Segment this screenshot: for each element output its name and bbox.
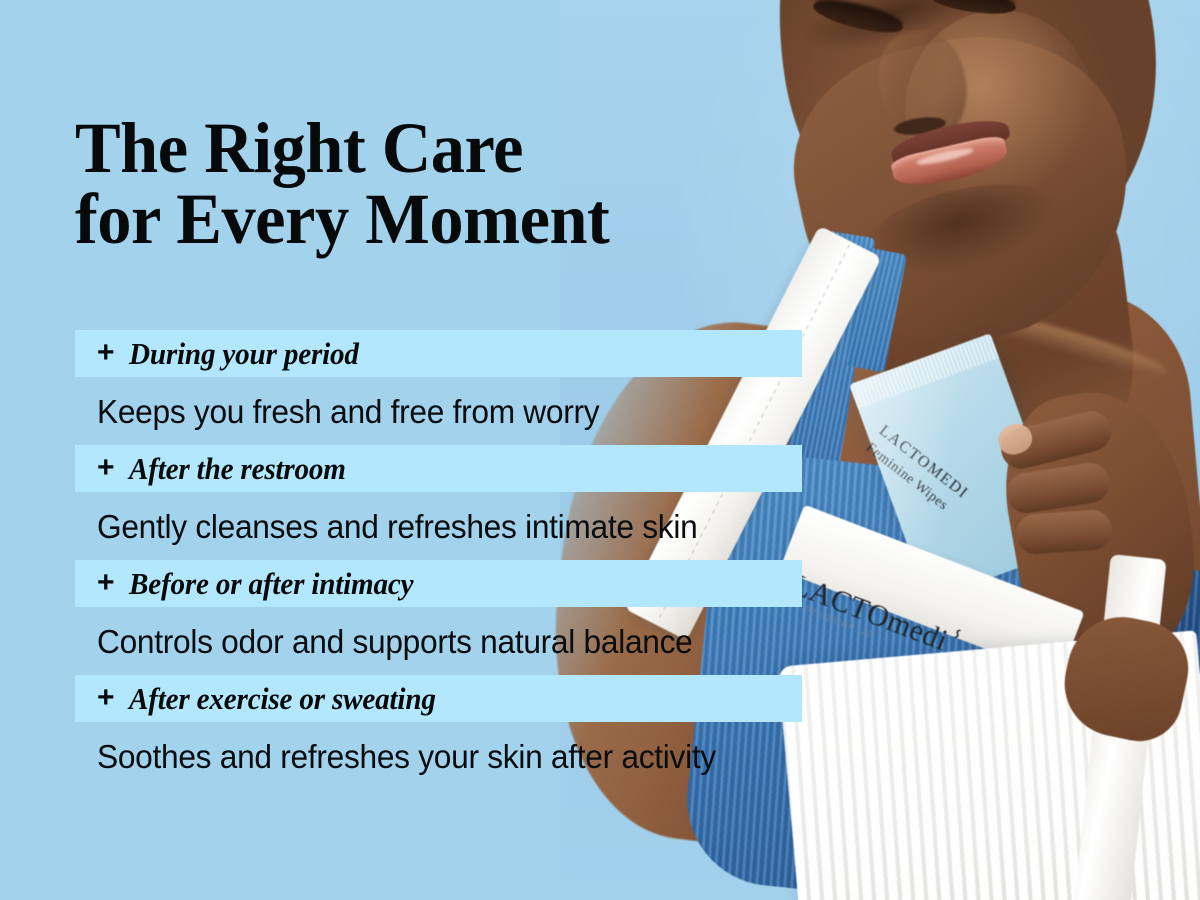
benefit-highlight-bar: + During your period <box>75 330 802 377</box>
plus-icon: + <box>97 338 115 368</box>
benefit-highlight-bar: + Before or after intimacy <box>75 560 802 607</box>
poster-canvas: LACTOMEDI Feminine Wipes LACTOmediⸯ F2.0… <box>0 0 1200 900</box>
plus-icon: + <box>97 683 115 713</box>
benefit-description: Gently cleanses and refreshes intimate s… <box>97 492 1156 560</box>
benefit-title: After the restroom <box>129 453 346 484</box>
list-item: + After the restroom Gently cleanses and… <box>0 445 1200 560</box>
list-item: + Before or after intimacy Controls odor… <box>0 560 1200 675</box>
benefit-highlight-bar: + After the restroom <box>75 445 802 492</box>
benefit-title: Before or after intimacy <box>129 568 413 599</box>
plus-icon: + <box>97 568 115 598</box>
benefit-title: During your period <box>129 338 359 369</box>
list-item: + After exercise or sweating Soothes and… <box>0 675 1200 790</box>
benefit-list: + During your period Keeps you fresh and… <box>0 330 1200 790</box>
plus-icon: + <box>97 453 115 483</box>
list-item: + During your period Keeps you fresh and… <box>0 330 1200 445</box>
benefit-description: Controls odor and supports natural balan… <box>97 607 1156 675</box>
benefit-highlight-bar: + After exercise or sweating <box>75 675 802 722</box>
benefit-description: Keeps you fresh and free from worry <box>97 377 1156 445</box>
benefit-title: After exercise or sweating <box>129 683 436 714</box>
page-title: The Right Care for Every Moment <box>75 113 609 256</box>
benefit-description: Soothes and refreshes your skin after ac… <box>97 722 1156 790</box>
poster-content: The Right Care for Every Moment + During… <box>0 0 1200 900</box>
